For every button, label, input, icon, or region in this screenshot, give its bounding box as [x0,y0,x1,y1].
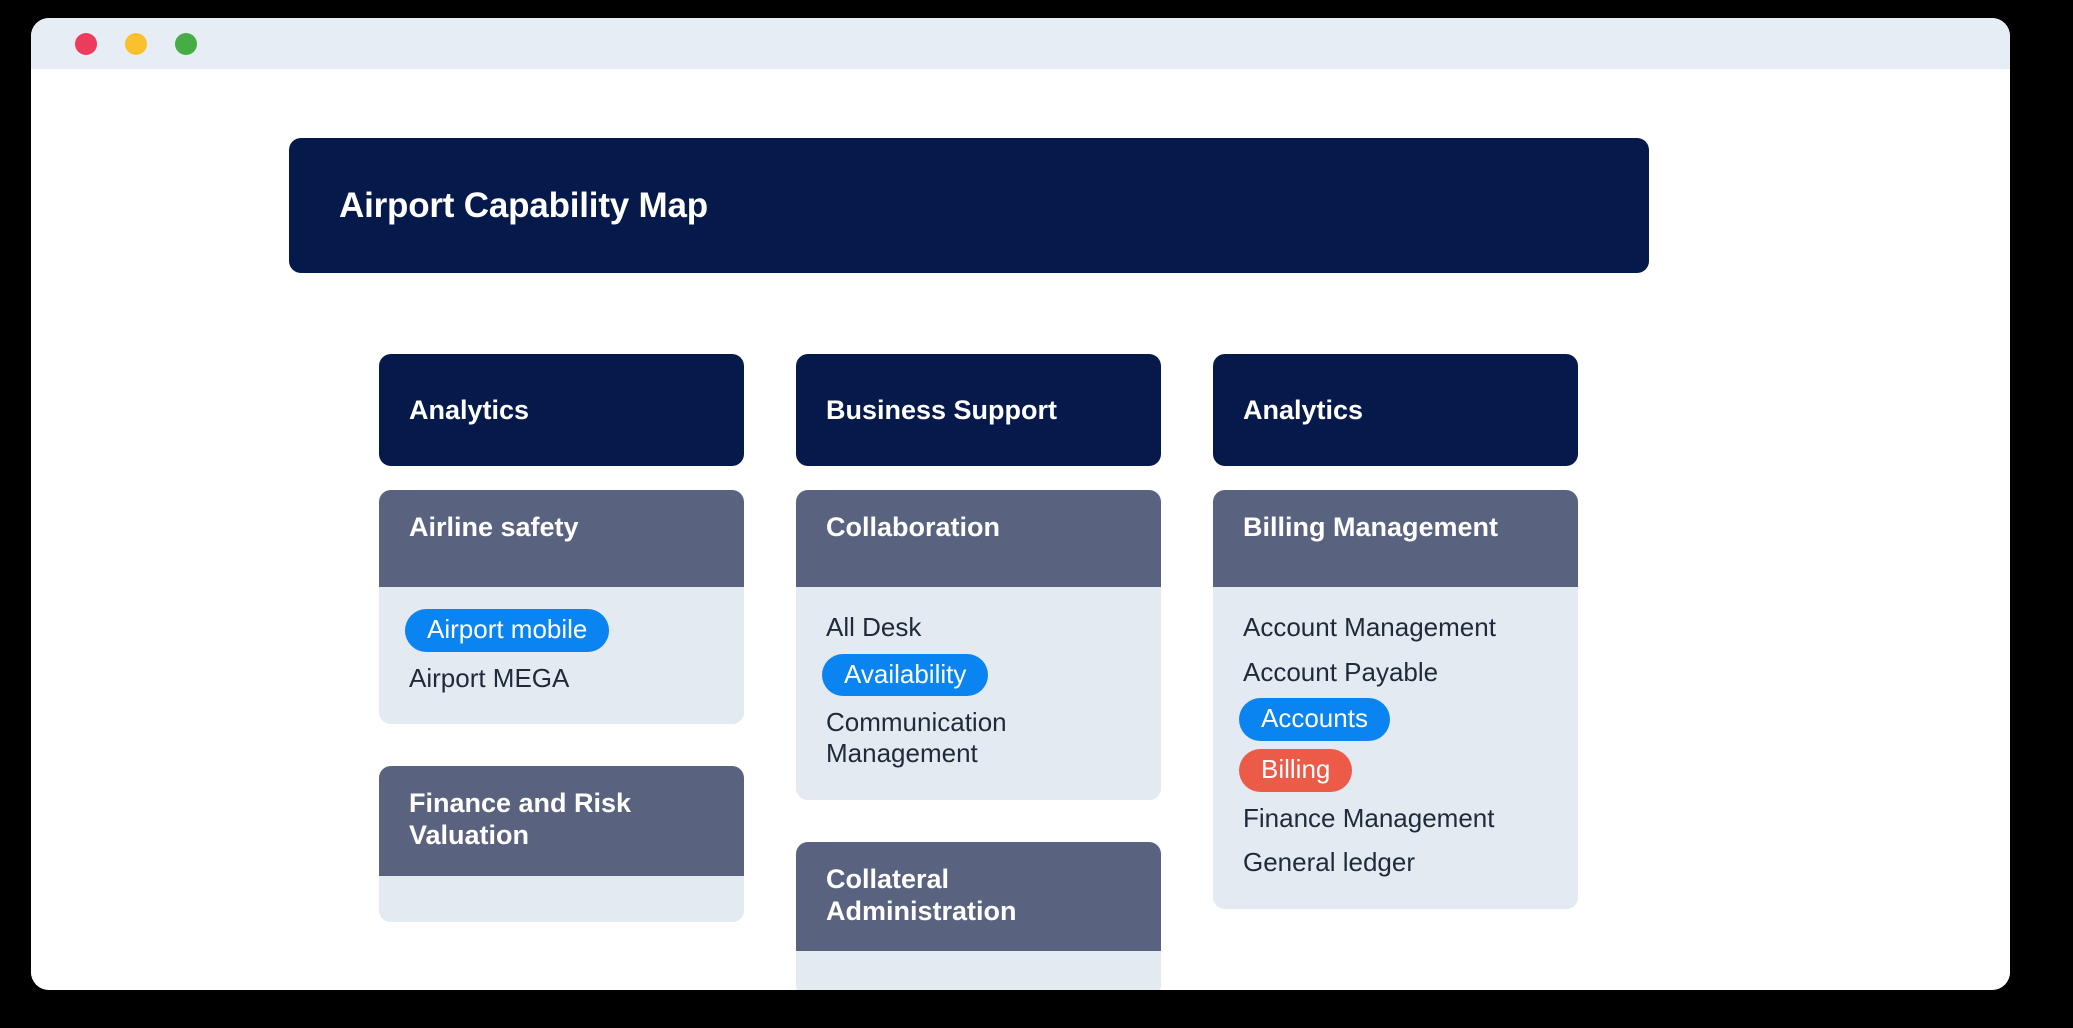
capability-item[interactable]: General ledger [1213,840,1578,885]
card-title: Billing Management [1243,512,1498,544]
capability-column: AnalyticsAirline safetyAirport mobileAir… [379,354,744,964]
card-body: Account ManagementAccount PayableAccount… [1213,587,1578,909]
capability-item[interactable]: Account Payable [1213,650,1578,695]
capability-item-row: Accounts [1213,694,1578,745]
capability-item-row: Availability [796,650,1161,701]
capability-card[interactable]: Finance and Risk Valuation [379,766,744,922]
card-title: Finance and Risk Valuation [409,788,714,852]
capability-item[interactable]: Finance Management [1213,796,1578,841]
card-body: All DeskAvailabilityCommunication Manage… [796,587,1161,800]
capability-item-badge[interactable]: Accounts [1239,698,1390,741]
card-header[interactable]: Billing Management [1213,490,1578,587]
capability-item[interactable]: Airport MEGA [379,656,744,701]
capability-column: AnalyticsBilling ManagementAccount Manag… [1213,354,1578,951]
capability-item-row: Billing [1213,745,1578,796]
close-window-button[interactable] [75,33,97,55]
capability-item-badge[interactable]: Billing [1239,749,1352,792]
capability-item[interactable]: All Desk [796,605,1161,650]
card-header[interactable]: Finance and Risk Valuation [379,766,744,876]
capability-card[interactable]: CollaborationAll DeskAvailabilityCommuni… [796,490,1161,800]
column-header[interactable]: Business Support [796,354,1161,466]
capability-card[interactable]: Billing ManagementAccount ManagementAcco… [1213,490,1578,909]
page-title: Airport Capability Map [339,186,708,226]
capability-item-badge[interactable]: Availability [822,654,988,697]
maximize-window-button[interactable] [175,33,197,55]
capability-column: Business SupportCollaborationAll DeskAva… [796,354,1161,990]
window-titlebar [31,18,2010,69]
card-title: Airline safety [409,512,579,544]
capability-item[interactable]: Account Management [1213,605,1578,650]
card-body [796,951,1161,990]
card-body [379,876,744,922]
card-header[interactable]: Airline safety [379,490,744,587]
card-title: Collateral Administration [826,864,1131,928]
column-header[interactable]: Analytics [379,354,744,466]
capability-map-canvas: Airport Capability Map AnalyticsAirline … [31,69,2010,990]
capability-item-badge[interactable]: Airport mobile [405,609,609,652]
card-header[interactable]: Collaboration [796,490,1161,587]
minimize-window-button[interactable] [125,33,147,55]
card-body: Airport mobileAirport MEGA [379,587,744,724]
app-window: Airport Capability Map AnalyticsAirline … [31,18,2010,990]
capability-map-banner: Airport Capability Map [289,138,1649,273]
column-header[interactable]: Analytics [1213,354,1578,466]
capability-card[interactable]: Collateral Administration [796,842,1161,990]
card-title: Collaboration [826,512,1000,544]
column-header-label: Business Support [826,394,1057,426]
capability-columns: AnalyticsAirline safetyAirport mobileAir… [379,354,2010,990]
column-header-label: Analytics [409,394,529,426]
card-header[interactable]: Collateral Administration [796,842,1161,952]
capability-card[interactable]: Airline safetyAirport mobileAirport MEGA [379,490,744,724]
capability-item-row: Airport mobile [379,605,744,656]
column-header-label: Analytics [1243,394,1363,426]
capability-item[interactable]: Communication Management [796,700,1161,775]
